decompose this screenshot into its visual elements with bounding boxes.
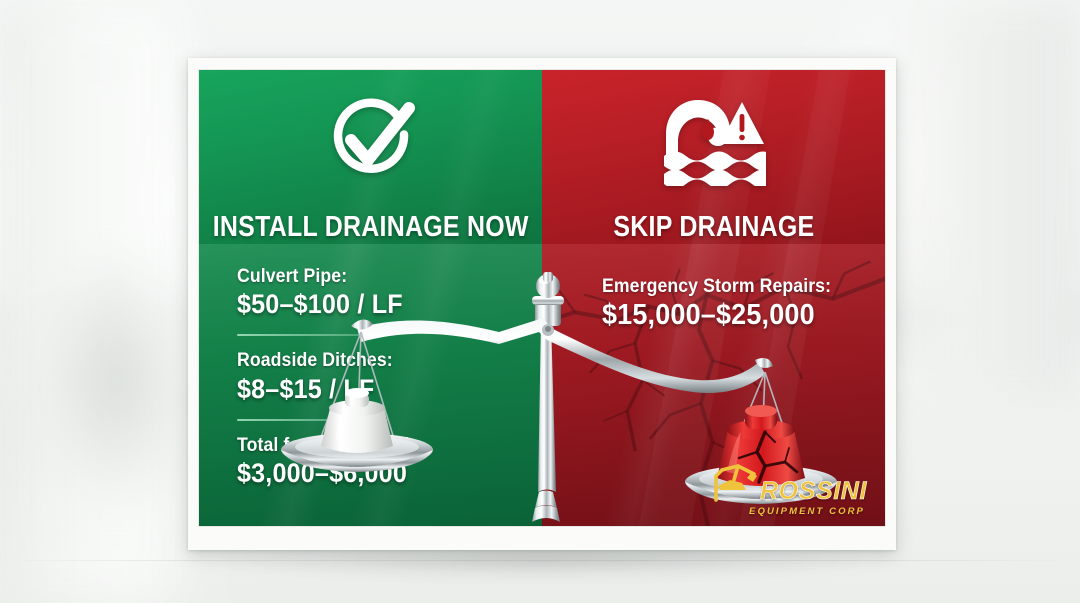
stat-value: $50–$100 / LF	[237, 288, 363, 321]
stat-value: $3,000–$6,000	[237, 457, 363, 490]
panel-title-install: INSTALL DRAINAGE NOW	[204, 211, 537, 244]
background-blur-right	[900, 0, 1080, 400]
board-drop-shadow	[198, 548, 886, 574]
stat-item: Culvert Pipe: $50–$100 / LF	[237, 266, 372, 321]
stat-divider	[237, 334, 389, 336]
background-blur-left	[0, 0, 175, 603]
stats-list-skip: Emergency Storm Repairs: $15,000–$25,000	[542, 244, 885, 334]
rossini-logo: ROSSINI EQUIPMENT CORP	[712, 462, 867, 517]
infographic-board: INSTALL DRAINAGE NOW Culvert Pipe: $50–$…	[188, 58, 896, 550]
background-blur-shadow	[40, 250, 190, 510]
stat-value: $8–$15 / LF	[237, 373, 363, 406]
check-circle-icon	[323, 94, 419, 191]
stat-label: Total for 300-ft Road:	[237, 435, 363, 457]
stat-item: Roadside Ditches: $8–$15 / LF	[237, 350, 372, 405]
logo-subtitle: EQUIPMENT CORP	[749, 507, 865, 517]
panel-header-red: SKIP DRAINAGE	[542, 70, 885, 244]
panel-header-green: INSTALL DRAINAGE NOW	[199, 70, 542, 244]
panel-container: INSTALL DRAINAGE NOW Culvert Pipe: $50–$…	[199, 70, 885, 526]
stat-label: Emergency Storm Repairs:	[602, 276, 845, 298]
panel-body-green: Culvert Pipe: $50–$100 / LF Roadside Dit…	[199, 244, 542, 526]
stat-value: $15,000–$25,000	[602, 298, 845, 333]
stat-label: Roadside Ditches:	[237, 350, 363, 372]
stat-label: Culvert Pipe:	[237, 266, 363, 288]
panel-seam	[541, 70, 544, 526]
panel-skip-drainage: SKIP DRAINAGE Emergency Storm Repairs: $…	[542, 70, 885, 526]
stats-list-install: Culvert Pipe: $50–$100 / LF Roadside Dit…	[199, 244, 542, 490]
excavator-icon	[712, 462, 758, 504]
logo-wordmark: ROSSINI	[760, 479, 867, 504]
scene-backdrop: INSTALL DRAINAGE NOW Culvert Pipe: $50–$…	[0, 0, 1080, 603]
panel-install-drainage: INSTALL DRAINAGE NOW Culvert Pipe: $50–$…	[199, 70, 542, 526]
logo-mark-row: ROSSINI	[712, 462, 867, 504]
stat-item: Emergency Storm Repairs: $15,000–$25,000	[602, 276, 863, 334]
panel-title-skip: SKIP DRAINAGE	[604, 211, 822, 244]
stat-divider	[237, 419, 389, 421]
flood-warning-icon	[662, 94, 766, 191]
stat-item: Total for 300-ft Road: $3,000–$6,000	[237, 435, 372, 490]
